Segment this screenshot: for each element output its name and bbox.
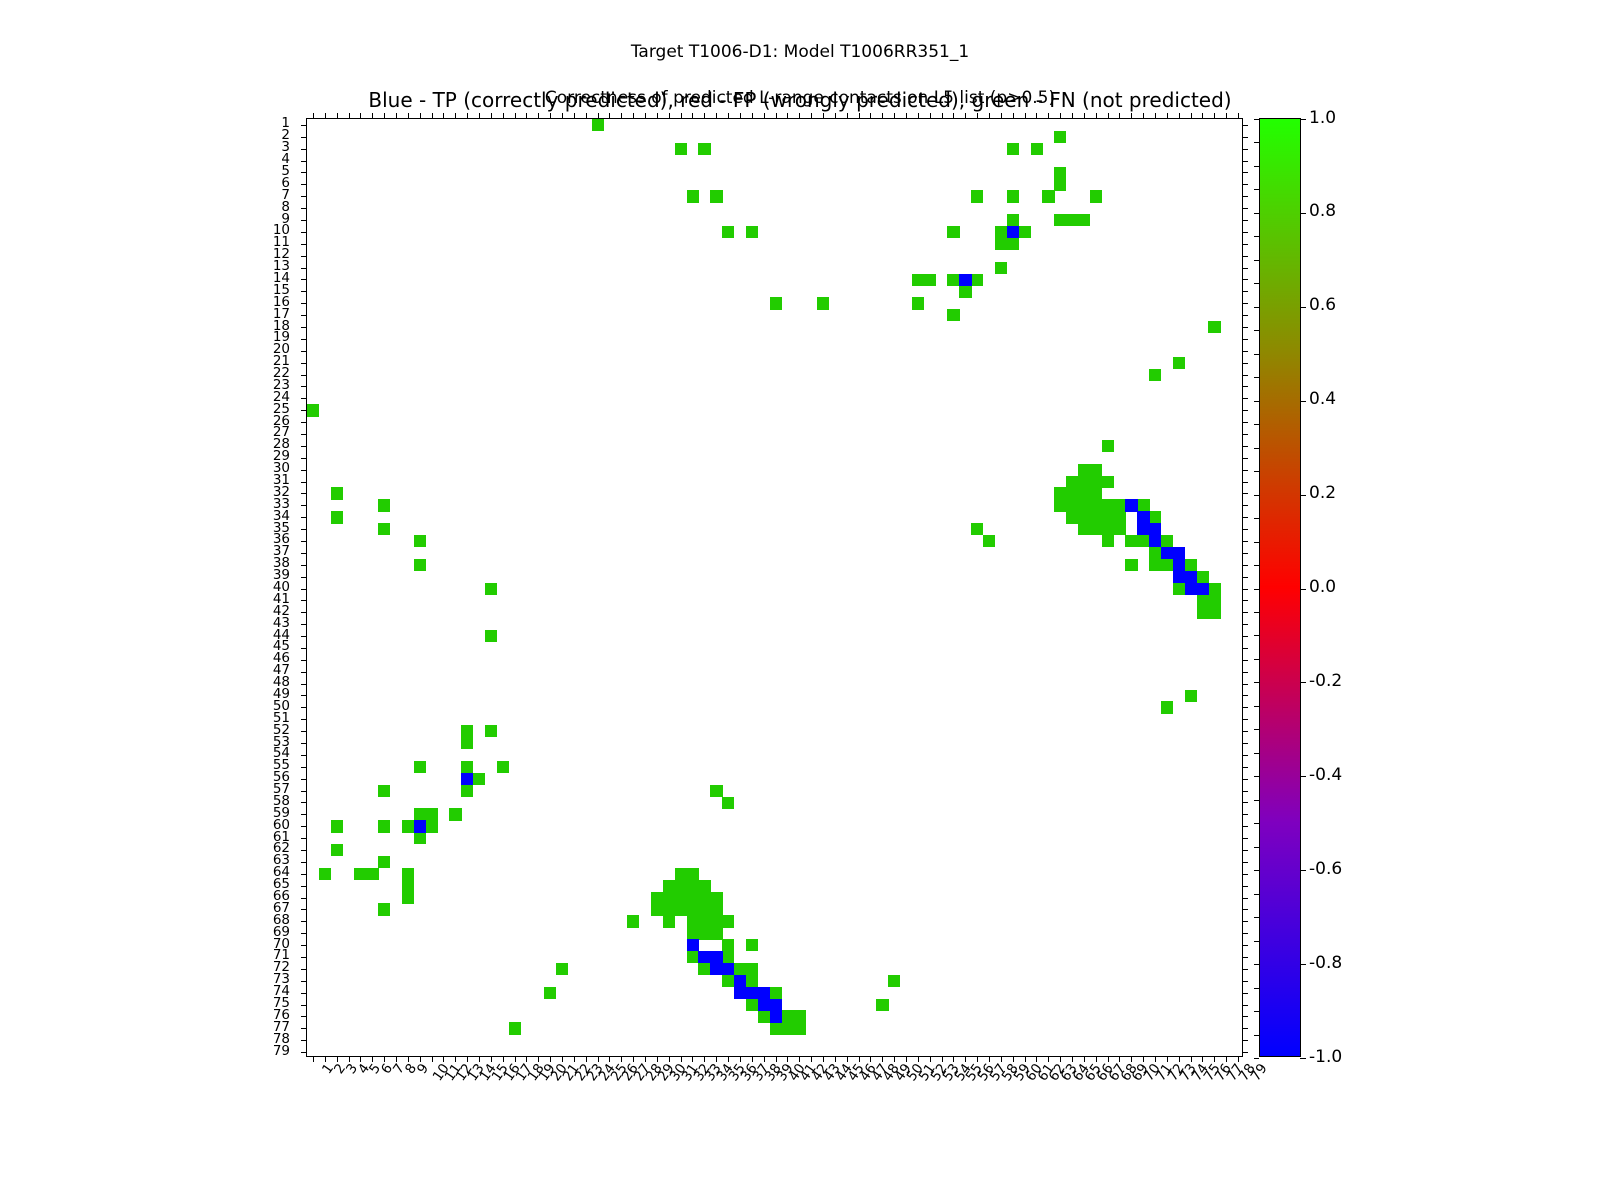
heatmap-cell-fn: [414, 761, 426, 773]
y-tick: [301, 458, 307, 459]
heatmap-cell-fn: [307, 404, 319, 416]
y-tick-right: [1242, 719, 1248, 720]
heatmap-cell-fn: [947, 226, 959, 238]
heatmap-cell-tp: [687, 939, 699, 951]
y-tick-right: [1242, 268, 1248, 269]
heatmap-cell-tp: [1173, 559, 1185, 571]
heatmap-cell-fn: [947, 309, 959, 321]
heatmap-cell-fn: [1066, 214, 1078, 226]
heatmap-cell-fn: [331, 820, 343, 832]
heatmap-cell-fn: [710, 915, 722, 927]
heatmap-cell-fn: [698, 880, 710, 892]
y-tick-right: [1242, 398, 1248, 399]
x-tick-top: [776, 113, 777, 119]
colorbar-gradient: [1260, 119, 1300, 1056]
heatmap-cell-tp: [461, 773, 473, 785]
x-tick-top: [479, 113, 480, 119]
x-tick-top: [1084, 113, 1085, 119]
heatmap-cell-fn: [378, 820, 390, 832]
heatmap-cell-fn: [710, 785, 722, 797]
x-tick-top: [977, 113, 978, 119]
x-tick-top: [645, 113, 646, 119]
x-tick-top: [1013, 113, 1014, 119]
y-tick: [301, 731, 307, 732]
y-tick-right: [1242, 838, 1248, 839]
colorbar-minor-tick: [1254, 917, 1259, 918]
x-tick-top: [989, 113, 990, 119]
x-tick-top: [823, 113, 824, 119]
heatmap-cell-fn: [722, 915, 734, 927]
y-tick: [301, 268, 307, 269]
y-tick-right: [1242, 363, 1248, 364]
y-tick: [301, 850, 307, 851]
heatmap-cell-tp: [1149, 535, 1161, 547]
y-tick: [301, 172, 307, 173]
y-tick-right: [1242, 600, 1248, 601]
y-tick: [301, 684, 307, 685]
x-tick-top: [1131, 113, 1132, 119]
colorbar-minor-tick: [1254, 283, 1259, 284]
x-tick-top: [621, 113, 622, 119]
colorbar-tick-label: 0.0: [1309, 579, 1336, 596]
heatmap-cell-tp: [770, 1010, 782, 1022]
y-tick: [301, 898, 307, 899]
x-tick-top: [313, 113, 314, 119]
heatmap-cell-fn: [675, 903, 687, 915]
heatmap-cell-fn: [1173, 357, 1185, 369]
heatmap-cell-fn: [698, 143, 710, 155]
y-tick-right: [1242, 303, 1248, 304]
y-tick-right: [1242, 826, 1248, 827]
heatmap-cell-fn: [722, 975, 734, 987]
heatmap-cell-fn: [1019, 226, 1031, 238]
heatmap-cell-fn: [414, 832, 426, 844]
y-tick-right: [1242, 862, 1248, 863]
heatmap-cell-fn: [687, 868, 699, 880]
y-tick: [301, 1028, 307, 1029]
y-tick: [301, 826, 307, 827]
y-axis-tick-labels: 1234567891011121314151617181920212223242…: [0, 118, 300, 1057]
heatmap-cell-fn: [1114, 511, 1126, 523]
colorbar-minor-tick: [1254, 260, 1259, 261]
y-tick-right: [1242, 672, 1248, 673]
heatmap-cell-tp: [1007, 226, 1019, 238]
x-tick-top: [1179, 113, 1180, 119]
y-tick: [301, 327, 307, 328]
heatmap-cell-fn: [414, 559, 426, 571]
y-tick: [301, 529, 307, 530]
heatmap-cell-fn: [366, 868, 378, 880]
y-tick-right: [1242, 410, 1248, 411]
y-tick: [301, 351, 307, 352]
heatmap-cell-fn: [1078, 487, 1090, 499]
heatmap-cell-fn: [1102, 523, 1114, 535]
colorbar-tick: [1300, 213, 1306, 214]
heatmap-cell-fn: [426, 808, 438, 820]
heatmap-cell-fn: [1102, 499, 1114, 511]
heatmap-cell-tp: [1161, 547, 1173, 559]
heatmap-cell-fn: [912, 274, 924, 286]
heatmap-cell-fn: [1078, 214, 1090, 226]
x-tick-top: [965, 113, 966, 119]
x-tick-top: [1096, 113, 1097, 119]
y-tick-right: [1242, 434, 1248, 435]
colorbar[interactable]: [1259, 118, 1301, 1057]
heatmap-cell-fn: [675, 880, 687, 892]
y-tick-right: [1242, 458, 1248, 459]
y-tick: [301, 339, 307, 340]
x-tick-top: [396, 113, 397, 119]
colorbar-minor-tick: [1254, 776, 1259, 777]
heatmap-cell-tp: [1137, 511, 1149, 523]
x-tick-top: [942, 113, 943, 119]
x-tick-top: [408, 113, 409, 119]
y-tick-right: [1242, 149, 1248, 150]
heatmap-cell-fn: [473, 773, 485, 785]
heatmap-cell-tp: [710, 951, 722, 963]
heatmap-cell-fn: [793, 1022, 805, 1034]
y-tick-right: [1242, 1052, 1248, 1053]
heatmap-cell-fn: [627, 915, 639, 927]
y-tick-right: [1242, 636, 1248, 637]
colorbar-tick-label: 1.0: [1309, 110, 1336, 127]
heatmap-cell-fn: [746, 999, 758, 1011]
heatmap-cell-tp: [770, 999, 782, 1011]
x-tick-top: [586, 113, 587, 119]
y-tick: [301, 624, 307, 625]
heatmap-cell-fn: [1102, 476, 1114, 488]
y-tick-right: [1242, 386, 1248, 387]
x-tick-top: [384, 113, 385, 119]
x-tick-top: [918, 113, 919, 119]
heatmap-cell-fn: [722, 951, 734, 963]
y-tick: [301, 505, 307, 506]
heatmap-cell-fn: [1007, 238, 1019, 250]
heatmap-cell-fn: [746, 226, 758, 238]
y-tick-right: [1242, 755, 1248, 756]
heatmap-cell-fn: [1161, 559, 1173, 571]
y-tick: [301, 957, 307, 958]
colorbar-minor-tick: [1254, 589, 1259, 590]
y-tick-right: [1242, 541, 1248, 542]
heatmap-cell-fn: [1185, 690, 1197, 702]
heatmap-cell-fn: [319, 868, 331, 880]
y-tick-right: [1242, 731, 1248, 732]
colorbar-minor-tick: [1254, 1011, 1259, 1012]
x-tick-top: [503, 113, 504, 119]
heatmap-cell-fn: [971, 190, 983, 202]
x-tick-top: [538, 113, 539, 119]
y-tick: [301, 149, 307, 150]
y-tick-right: [1242, 220, 1248, 221]
x-tick-top: [349, 113, 350, 119]
y-tick: [301, 256, 307, 257]
x-tick-top: [360, 113, 361, 119]
colorbar-minor-tick: [1254, 354, 1259, 355]
colorbar-tick-label: 0.6: [1309, 297, 1336, 314]
colorbar-tick-label: -0.2: [1309, 673, 1342, 690]
x-tick-top: [657, 113, 658, 119]
x-tick-top: [930, 113, 931, 119]
heatmap-cell-fn: [651, 903, 663, 915]
x-tick-top: [811, 113, 812, 119]
y-tick-right: [1242, 874, 1248, 875]
heatmap-cell-tp: [1185, 583, 1197, 595]
heatmap-cell-fn: [710, 927, 722, 939]
colorbar-tick: [1300, 589, 1306, 590]
heatmap-cell-fn: [1066, 487, 1078, 499]
y-tick-right: [1242, 256, 1248, 257]
heatmap-cell-fn: [770, 1022, 782, 1034]
y-tick-right: [1242, 315, 1248, 316]
x-tick-top: [906, 113, 907, 119]
heatmap-cell-fn: [509, 1022, 521, 1034]
y-tick-right: [1242, 279, 1248, 280]
heatmap-cell-fn: [1102, 440, 1114, 452]
y-tick-right: [1242, 707, 1248, 708]
heatmap-cell-fn: [1090, 190, 1102, 202]
y-tick-right: [1242, 957, 1248, 958]
y-tick: [301, 612, 307, 613]
colorbar-tick: [1300, 401, 1306, 402]
x-tick-top: [455, 113, 456, 119]
heatmap-cell-fn: [378, 499, 390, 511]
y-tick-right: [1242, 660, 1248, 661]
x-tick-top: [1060, 113, 1061, 119]
heatmap-cell-fn: [1054, 487, 1066, 499]
y-tick: [301, 315, 307, 316]
y-tick-right: [1242, 493, 1248, 494]
colorbar-minor-tick: [1254, 471, 1259, 472]
x-tick-top: [1238, 113, 1239, 119]
y-tick-right: [1242, 850, 1248, 851]
colorbar-minor-tick: [1254, 189, 1259, 190]
heatmap-cell-fn: [1054, 167, 1066, 179]
heatmap-cell-fn: [1149, 511, 1161, 523]
x-tick-top: [420, 113, 421, 119]
y-tick-right: [1242, 291, 1248, 292]
heatmap-cell-fn: [1031, 143, 1043, 155]
heatmap-cell-fn: [710, 903, 722, 915]
heatmap-cell-fn: [675, 143, 687, 155]
colorbar-minor-tick: [1254, 565, 1259, 566]
x-tick-top: [1155, 113, 1156, 119]
y-tick-right: [1242, 969, 1248, 970]
x-axis-tick-labels: 1234567891011121314151617181920212223242…: [306, 1062, 1243, 1192]
contact-map-axes[interactable]: [306, 118, 1243, 1057]
heatmap-cell-fn: [544, 987, 556, 999]
heatmap-cell-fn: [461, 737, 473, 749]
heatmap-cell-tp: [734, 975, 746, 987]
colorbar-minor-tick: [1254, 988, 1259, 989]
heatmap-cell-fn: [449, 808, 461, 820]
colorbar-minor-tick: [1254, 307, 1259, 308]
heatmap-cell-fn: [1090, 511, 1102, 523]
heatmap-cell-tp: [746, 987, 758, 999]
heatmap-cell-fn: [378, 856, 390, 868]
y-tick: [301, 553, 307, 554]
y-tick: [301, 1040, 307, 1041]
colorbar-minor-tick: [1254, 823, 1259, 824]
heatmap-cell-fn: [995, 262, 1007, 274]
heatmap-cell-fn: [414, 535, 426, 547]
x-tick-top: [1143, 113, 1144, 119]
y-tick-right: [1242, 375, 1248, 376]
heatmap-cell-fn: [959, 285, 971, 297]
x-tick-top: [609, 113, 610, 119]
heatmap-cell-tp: [758, 987, 770, 999]
heatmap-cell-fn: [746, 939, 758, 951]
x-tick-top: [432, 113, 433, 119]
colorbar-minor-tick: [1254, 1058, 1259, 1059]
heatmap-cell-fn: [331, 487, 343, 499]
x-tick-top: [1036, 113, 1037, 119]
heatmap-cell-fn: [698, 915, 710, 927]
colorbar-minor-tick: [1254, 236, 1259, 237]
y-tick: [301, 303, 307, 304]
heatmap-cell-fn: [1054, 214, 1066, 226]
y-tick: [301, 672, 307, 673]
heatmap-cell-fn: [698, 963, 710, 975]
heatmap-cell-fn: [1149, 369, 1161, 381]
y-tick-right: [1242, 981, 1248, 982]
x-tick-top: [669, 113, 670, 119]
heatmap-cell-fn: [1102, 535, 1114, 547]
colorbar-minor-tick: [1254, 542, 1259, 543]
heatmap-cell-fn: [1114, 499, 1126, 511]
y-tick-right: [1242, 196, 1248, 197]
heatmap-cell-fn: [1066, 499, 1078, 511]
y-tick-right: [1242, 921, 1248, 922]
x-tick-top: [859, 113, 860, 119]
heatmap-cell-fn: [1054, 131, 1066, 143]
y-tick-right: [1242, 172, 1248, 173]
heatmap-cell-fn: [983, 535, 995, 547]
heatmap-cell-fn: [1090, 476, 1102, 488]
y-tick: [301, 874, 307, 875]
y-tick: [301, 969, 307, 970]
y-tick: [301, 470, 307, 471]
colorbar-minor-tick: [1254, 870, 1259, 871]
heatmap-cell-fn: [1090, 464, 1102, 476]
colorbar-minor-tick: [1254, 941, 1259, 942]
y-tick: [301, 981, 307, 982]
heatmap-cell-fn: [378, 523, 390, 535]
heatmap-cell-fn: [781, 1022, 793, 1034]
heatmap-cell-fn: [1102, 511, 1114, 523]
y-tick-right: [1242, 779, 1248, 780]
x-tick-top: [799, 113, 800, 119]
y-tick-right: [1242, 517, 1248, 518]
y-tick: [301, 446, 307, 447]
y-tick-right: [1242, 208, 1248, 209]
y-tick-label: 79: [273, 1045, 290, 1059]
y-tick-right: [1242, 565, 1248, 566]
x-tick-top: [515, 113, 516, 119]
colorbar-minor-tick: [1254, 706, 1259, 707]
y-tick: [301, 541, 307, 542]
heatmap-cell-fn: [971, 523, 983, 535]
y-tick: [301, 945, 307, 946]
heatmap-cell-fn: [651, 892, 663, 904]
x-tick-top: [740, 113, 741, 119]
x-tick-top: [574, 113, 575, 119]
y-tick: [301, 1052, 307, 1053]
colorbar-tick: [1300, 1058, 1306, 1059]
y-tick-right: [1242, 529, 1248, 530]
colorbar-minor-tick: [1254, 495, 1259, 496]
x-tick-top: [562, 113, 563, 119]
heatmap-cell-fn: [1078, 476, 1090, 488]
y-tick: [301, 196, 307, 197]
colorbar-minor-tick: [1254, 753, 1259, 754]
heatmap-cell-fn: [1078, 523, 1090, 535]
heatmap-cell-fn: [1208, 583, 1220, 595]
x-tick-top: [1191, 113, 1192, 119]
heatmap-cell-fn: [1090, 523, 1102, 535]
y-tick-right: [1242, 232, 1248, 233]
heatmap-cell-fn: [1090, 487, 1102, 499]
x-tick-top: [870, 113, 871, 119]
heatmap-cell-fn: [710, 190, 722, 202]
y-tick: [301, 921, 307, 922]
heatmap-cell-fn: [378, 785, 390, 797]
y-tick: [301, 707, 307, 708]
colorbar-minor-tick: [1254, 401, 1259, 402]
heatmap-cell-fn: [1161, 701, 1173, 713]
heatmap-cell-fn: [971, 274, 983, 286]
heatmap-cell-fn: [758, 1010, 770, 1022]
heatmap-cell-fn: [770, 297, 782, 309]
colorbar-minor-tick: [1254, 1035, 1259, 1036]
y-tick: [301, 493, 307, 494]
colorbar-tick: [1300, 682, 1306, 683]
y-tick: [301, 909, 307, 910]
heatmap-cell-fn: [354, 868, 366, 880]
heatmap-cell-fn: [1007, 143, 1019, 155]
colorbar-tick-label: 0.4: [1309, 391, 1336, 408]
y-tick: [301, 862, 307, 863]
heatmap-cell-fn: [698, 892, 710, 904]
y-tick: [301, 814, 307, 815]
heatmap-cell-fn: [781, 1010, 793, 1022]
heatmap-cell-tp: [710, 963, 722, 975]
y-tick: [301, 363, 307, 364]
colorbar-tick: [1300, 870, 1306, 871]
heatmap-cell-fn: [687, 892, 699, 904]
heatmap-cell-fn: [1078, 464, 1090, 476]
x-tick-top: [764, 113, 765, 119]
y-tick: [301, 767, 307, 768]
y-tick-right: [1242, 327, 1248, 328]
y-tick-right: [1242, 695, 1248, 696]
heatmap-cell-fn: [888, 975, 900, 987]
x-tick-top: [953, 113, 954, 119]
y-tick: [301, 743, 307, 744]
heatmap-cell-fn: [1007, 190, 1019, 202]
y-tick: [301, 184, 307, 185]
x-tick-top: [337, 113, 338, 119]
colorbar-minor-tick: [1254, 682, 1259, 683]
y-tick: [301, 755, 307, 756]
heatmap-cell-fn: [1137, 499, 1149, 511]
y-tick: [301, 636, 307, 637]
heatmap-cell-fn: [1054, 178, 1066, 190]
heatmap-cell-fn: [461, 761, 473, 773]
colorbar-minor-tick: [1254, 213, 1259, 214]
heatmap-cell-tp: [1137, 523, 1149, 535]
y-tick: [301, 1016, 307, 1017]
